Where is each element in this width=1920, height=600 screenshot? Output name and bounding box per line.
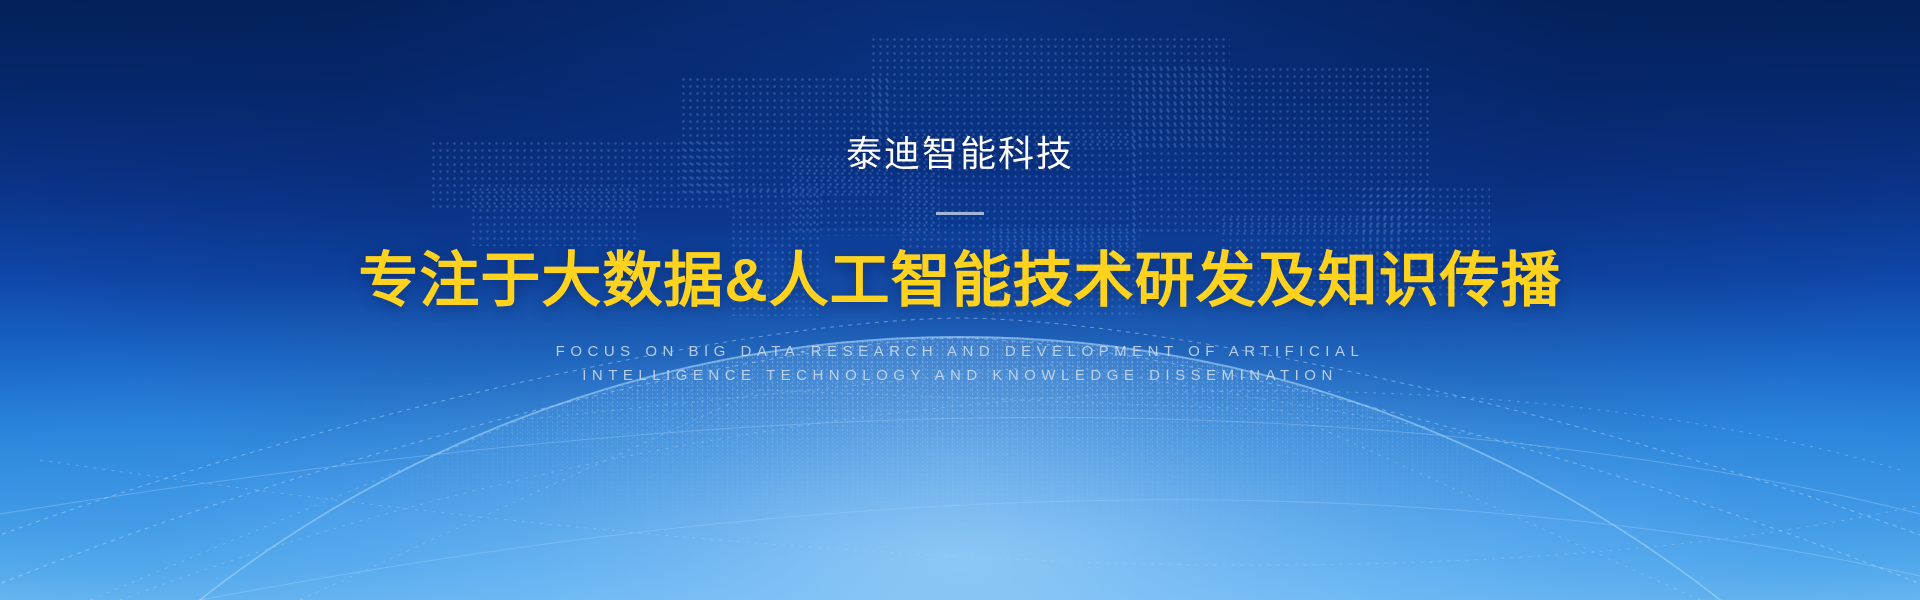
hero-banner: 泰迪智能科技 专注于大数据&人工智能技术研发及知识传播 FOCUS ON BIG… bbox=[0, 0, 1920, 600]
title-divider bbox=[936, 212, 984, 215]
subtitle-block: FOCUS ON BIG DATA-RESEARCH AND DEVELOPME… bbox=[0, 340, 1920, 388]
subtitle-line-1: FOCUS ON BIG DATA-RESEARCH AND DEVELOPME… bbox=[0, 340, 1920, 364]
banner-content: 泰迪智能科技 专注于大数据&人工智能技术研发及知识传播 FOCUS ON BIG… bbox=[0, 0, 1920, 388]
headline-text: 专注于大数据&人工智能技术研发及知识传播 bbox=[0, 249, 1920, 314]
company-name: 泰迪智能科技 bbox=[0, 136, 1920, 172]
subtitle-line-2: INTELLIGENCE TECHNOLOGY AND KNOWLEDGE DI… bbox=[0, 364, 1920, 388]
